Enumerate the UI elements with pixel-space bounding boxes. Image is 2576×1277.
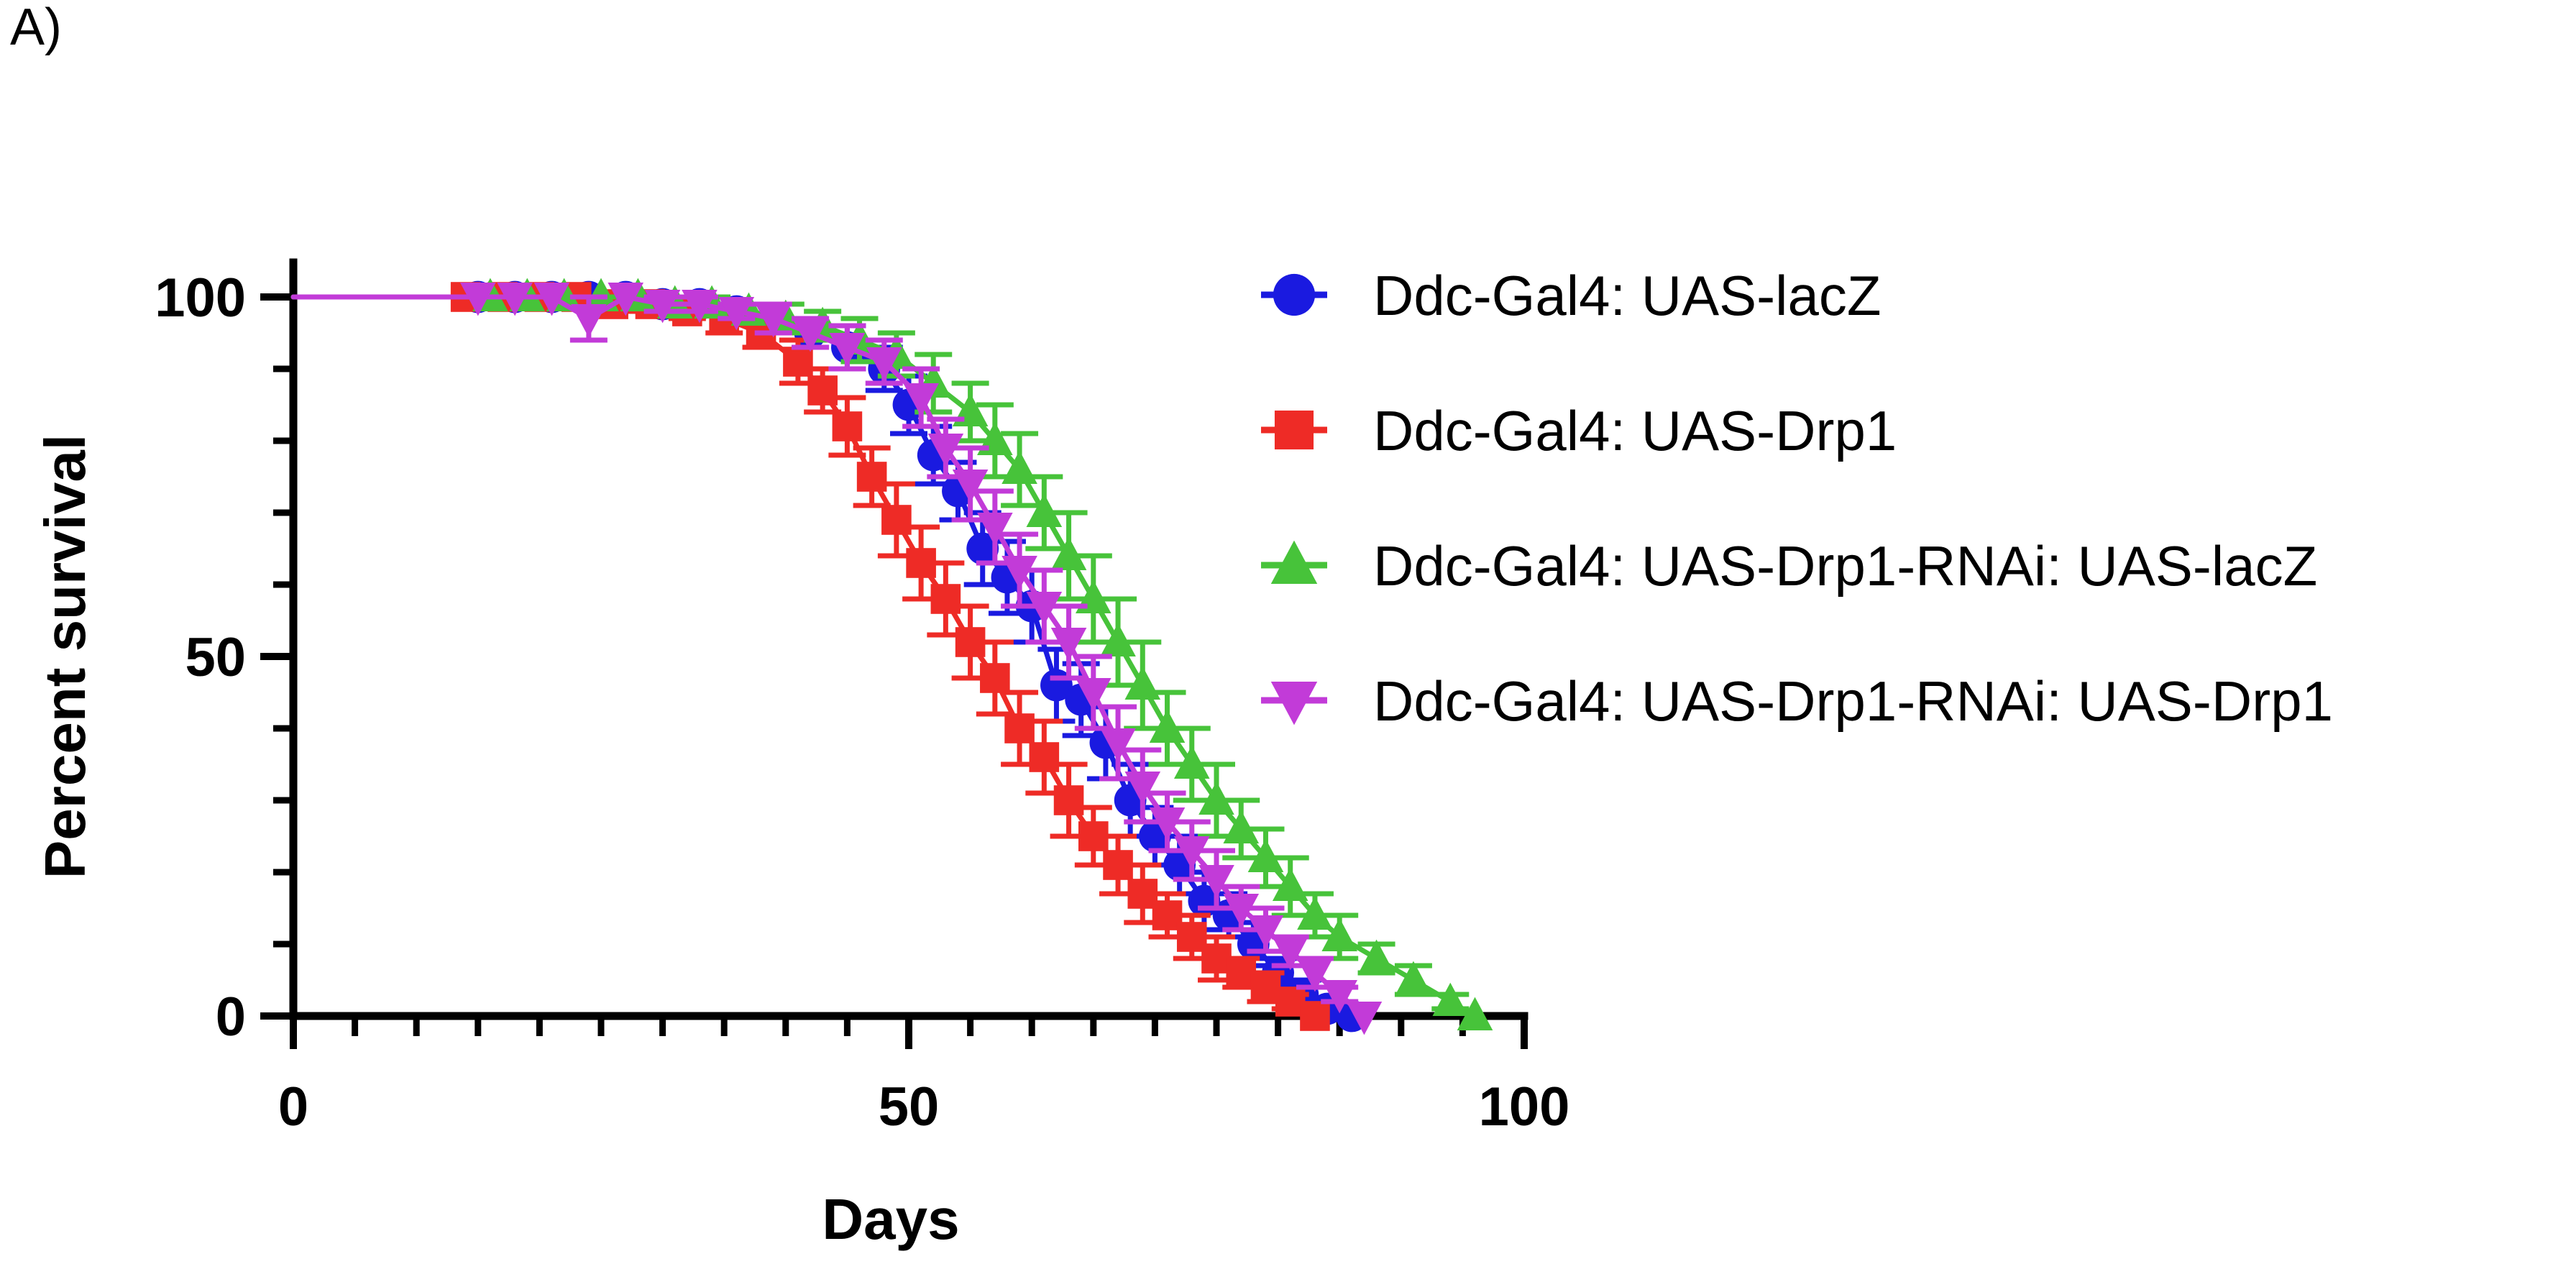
data-point-marker <box>571 304 607 337</box>
legend-entry-1[interactable]: Ddc-Gal4: UAS-lacZ <box>1261 264 1881 327</box>
data-point-marker <box>881 505 912 535</box>
data-point-marker <box>1300 1001 1330 1031</box>
legend-entry-2[interactable]: Ddc-Gal4: UAS-Drp1 <box>1261 399 1897 462</box>
series-2 <box>293 282 1330 1031</box>
data-point-marker <box>1030 742 1060 772</box>
legend-group: Ddc-Gal4: UAS-lacZDdc-Gal4: UAS-Drp1Ddc-… <box>1261 264 2333 733</box>
data-point-marker <box>931 584 961 614</box>
legend-label: Ddc-Gal4: UAS-Drp1-RNAi: UAS-lacZ <box>1373 534 2317 598</box>
series-group <box>293 278 1493 1035</box>
series-line <box>293 297 1475 1016</box>
data-point-marker <box>1103 850 1133 880</box>
legend-label: Ddc-Gal4: UAS-Drp1-RNAi: UAS-Drp1 <box>1373 669 2333 733</box>
data-point-marker <box>906 548 936 578</box>
survival-curve-chart: 050100050100DaysPercent survival Ddc-Gal… <box>0 0 2576 1277</box>
y-axis-title: Percent survival <box>33 434 97 879</box>
x-tick-label: 100 <box>1479 1076 1570 1138</box>
data-point-marker <box>1432 983 1468 1016</box>
legend-marker-circle-icon <box>1273 274 1315 316</box>
legend-label: Ddc-Gal4: UAS-lacZ <box>1373 264 1881 327</box>
axes-group: 050100050100DaysPercent survival <box>33 262 1569 1251</box>
x-tick-label: 0 <box>278 1076 308 1138</box>
legend-label: Ddc-Gal4: UAS-Drp1 <box>1373 399 1897 462</box>
figure-root: A) 050100050100DaysPercent survival Ddc-… <box>0 0 2576 1277</box>
data-point-marker <box>955 627 986 657</box>
legend-marker-square-icon <box>1275 411 1314 449</box>
data-point-marker <box>783 347 813 377</box>
data-point-marker <box>980 663 1010 693</box>
data-point-marker <box>1004 713 1035 743</box>
data-point-marker <box>1054 785 1084 815</box>
y-tick-label: 50 <box>185 627 246 688</box>
y-tick-label: 100 <box>155 267 246 329</box>
data-point-marker <box>807 375 838 406</box>
legend-entry-3[interactable]: Ddc-Gal4: UAS-Drp1-RNAi: UAS-lacZ <box>1261 534 2317 598</box>
x-axis-title: Days <box>822 1187 959 1251</box>
data-point-marker <box>833 411 863 441</box>
data-point-marker <box>1078 821 1109 851</box>
x-tick-label: 50 <box>879 1076 940 1138</box>
data-point-marker <box>857 462 887 492</box>
legend-entry-4[interactable]: Ddc-Gal4: UAS-Drp1-RNAi: UAS-Drp1 <box>1261 669 2333 733</box>
y-tick-label: 0 <box>216 987 246 1048</box>
